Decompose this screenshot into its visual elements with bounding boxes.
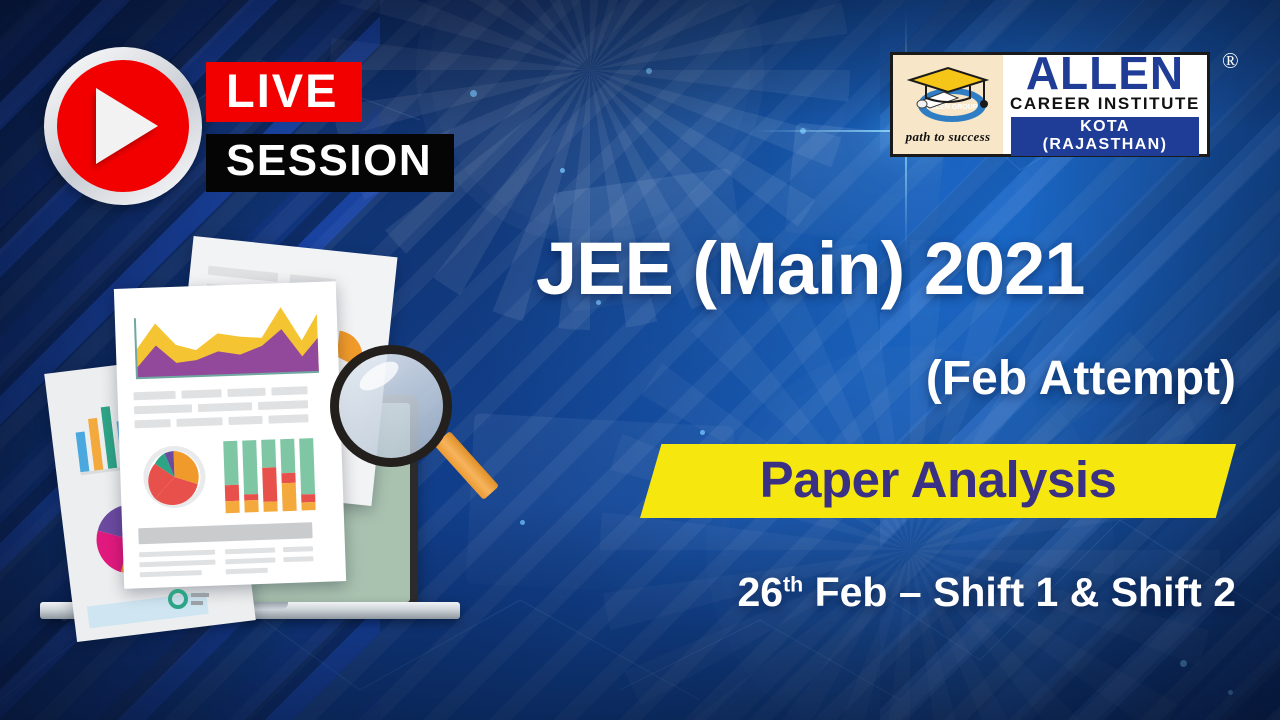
magnifier-handle (434, 431, 499, 500)
allen-institute-text: CAREER INSTITUTE (1010, 95, 1200, 114)
allen-logo: ALLEN GROUP path to success ALLEN CAREER… (890, 52, 1210, 157)
status-widget-icon (168, 588, 212, 610)
magnifier-lens (330, 345, 452, 467)
page-subtitle: (Feb Attempt) (536, 355, 1236, 403)
paper-analysis-banner: Paper Analysis (640, 444, 1236, 518)
page-title: JEE (Main) 2021 (536, 232, 1236, 306)
graduation-cap-icon: ALLEN GROUP (900, 62, 996, 124)
date-ordinal-suffix: th (783, 572, 803, 596)
live-label: LIVE (226, 64, 338, 117)
allen-tagline: path to success (893, 129, 1003, 145)
paper-analysis-label: Paper Analysis (760, 454, 1117, 505)
live-badge: LIVE (206, 62, 362, 122)
play-triangle (96, 88, 158, 164)
allen-brand-text: ALLEN (1026, 52, 1184, 94)
magnifying-glass-icon (330, 345, 480, 495)
registered-trademark-icon: ® (1222, 48, 1239, 74)
magnifier-glare (355, 356, 403, 396)
date-detail-text: Feb – Shift 1 & Shift 2 (803, 569, 1236, 615)
allen-wordmark: ALLEN CAREER INSTITUTE KOTA (RAJASTHAN) (1003, 55, 1207, 154)
session-badge: SESSION (206, 134, 454, 192)
promo-banner: LIVE SESSION ALLEN GROUP path to success… (0, 0, 1280, 720)
allen-location-text: KOTA (RAJASTHAN) (1011, 117, 1199, 156)
analysis-illustration (40, 240, 540, 690)
session-label: SESSION (226, 136, 432, 185)
allen-emblem: ALLEN GROUP path to success (893, 55, 1003, 154)
play-button-icon[interactable] (44, 47, 202, 205)
session-date-line: 26th Feb – Shift 1 & Shift 2 (536, 572, 1236, 613)
report-document-icon (114, 281, 346, 589)
pie-chart-icon (133, 436, 216, 519)
stacked-bar-chart-icon (221, 432, 320, 515)
date-day-number: 26 (737, 569, 783, 615)
area-chart-icon (130, 300, 323, 383)
